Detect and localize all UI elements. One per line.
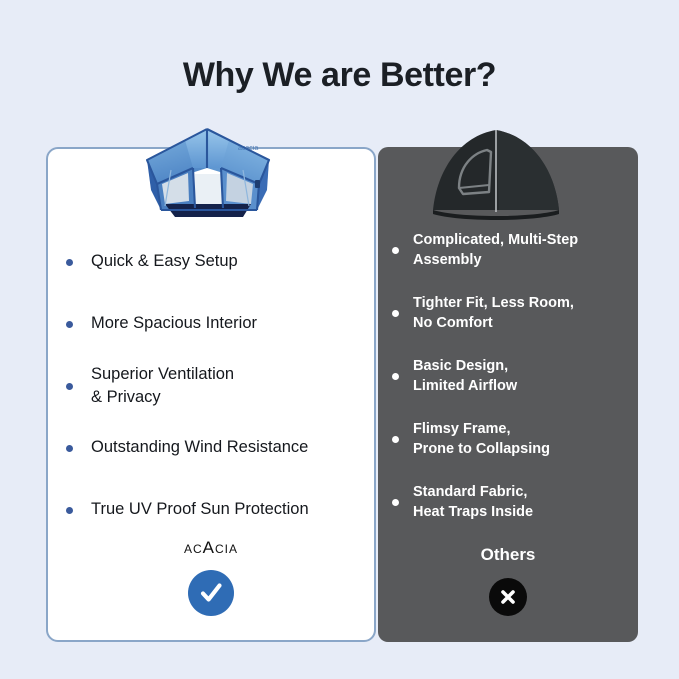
list-item: More Spacious Interior: [66, 293, 366, 355]
bullet-icon: [392, 373, 399, 380]
others-feature-list: Complicated, Multi-Step Assembly Tighter…: [392, 219, 632, 534]
dark-dome-tent-image: [429, 126, 563, 224]
feature-text: Outstanding Wind Resistance: [91, 436, 308, 459]
list-item: Flimsy Frame, Prone to Collapsing: [392, 408, 632, 471]
brand-feature-list: Quick & Easy Setup More Spacious Interio…: [66, 231, 366, 541]
feature-text: Superior Ventilation & Privacy: [91, 363, 234, 410]
others-label: Others: [378, 545, 638, 565]
brand-footer: acAcia: [48, 538, 374, 616]
svg-text:acacia: acacia: [238, 145, 258, 152]
feature-text: More Spacious Interior: [91, 312, 257, 335]
bullet-icon: [66, 445, 73, 452]
bullet-icon: [66, 321, 73, 328]
list-item: Standard Fabric, Heat Traps Inside: [392, 471, 632, 534]
feature-text: Basic Design, Limited Airflow: [413, 357, 517, 396]
feature-text: True UV Proof Sun Protection: [91, 498, 309, 521]
bullet-icon: [392, 310, 399, 317]
list-item: True UV Proof Sun Protection: [66, 479, 366, 541]
bullet-icon: [66, 383, 73, 390]
bullet-icon: [392, 499, 399, 506]
x-icon: [489, 578, 527, 616]
blue-canopy-tent-image: acacia: [131, 124, 285, 224]
feature-text: Complicated, Multi-Step Assembly: [413, 231, 578, 270]
list-item: Superior Ventilation & Privacy: [66, 355, 366, 417]
check-icon: [188, 570, 234, 616]
feature-text: Flimsy Frame, Prone to Collapsing: [413, 420, 550, 459]
list-item: Basic Design, Limited Airflow: [392, 345, 632, 408]
bullet-icon: [66, 259, 73, 266]
feature-text: Quick & Easy Setup: [91, 250, 238, 273]
brand-logo: acAcia: [48, 538, 374, 558]
list-item: Quick & Easy Setup: [66, 231, 366, 293]
bullet-icon: [392, 247, 399, 254]
feature-text: Tighter Fit, Less Room, No Comfort: [413, 294, 574, 333]
others-footer: Others: [378, 545, 638, 616]
feature-text: Standard Fabric, Heat Traps Inside: [413, 483, 533, 522]
list-item: Outstanding Wind Resistance: [66, 417, 366, 479]
bullet-icon: [392, 436, 399, 443]
page-title: Why We are Better?: [0, 56, 679, 95]
list-item: Complicated, Multi-Step Assembly: [392, 219, 632, 282]
list-item: Tighter Fit, Less Room, No Comfort: [392, 282, 632, 345]
bullet-icon: [66, 507, 73, 514]
